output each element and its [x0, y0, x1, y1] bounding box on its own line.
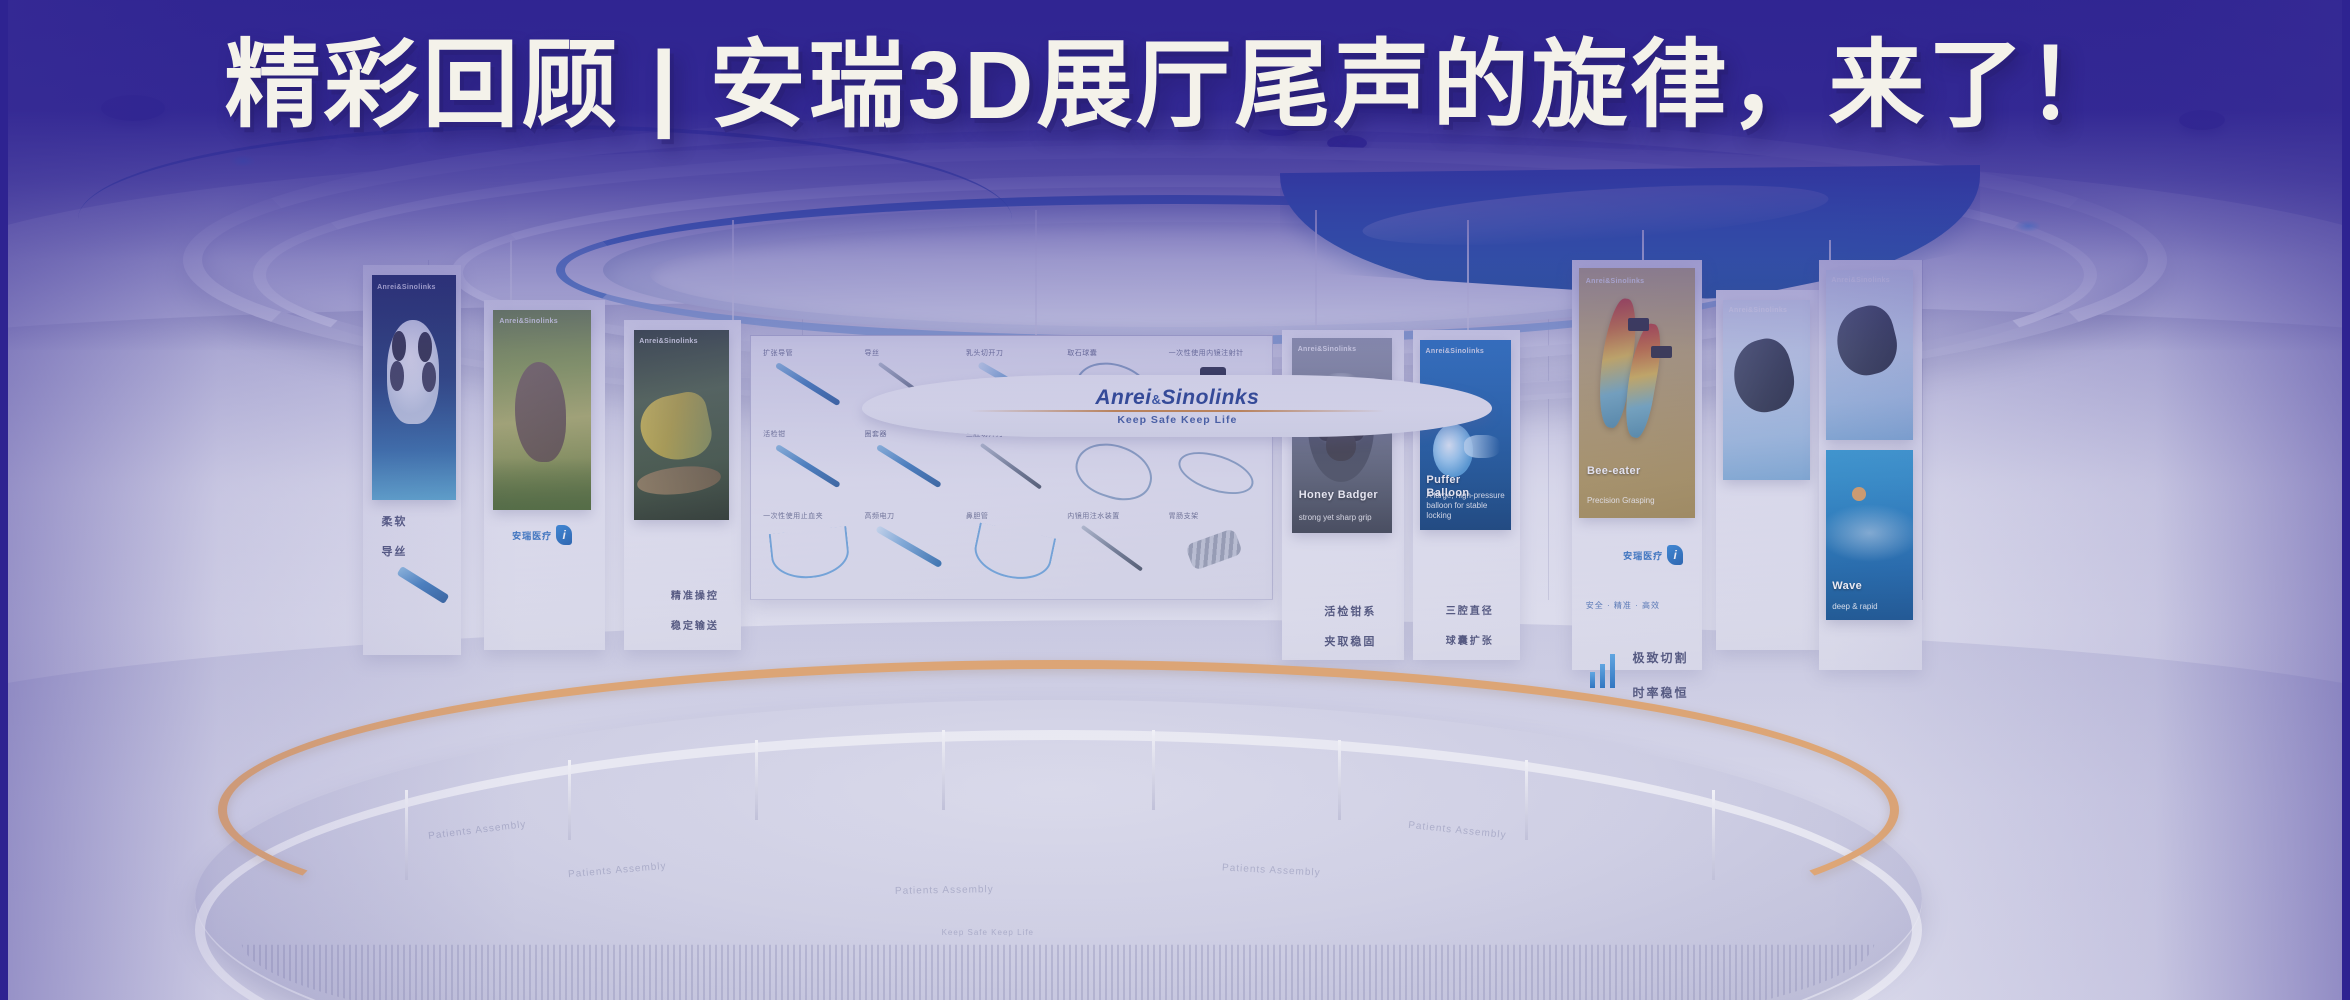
brand-ampersand: & [1152, 392, 1162, 407]
badger-cn-line-2: 夹取稳固 [1324, 635, 1376, 650]
product-label: 内镜用注水装置 [1067, 511, 1120, 521]
badge-label: 安瑞医疗 [512, 529, 552, 542]
product-label: 取石球囊 [1067, 348, 1097, 358]
poster-logo: Anrei&Sinolinks [1586, 278, 1645, 285]
poster-logo: Anrei&Sinolinks [1729, 307, 1788, 314]
bar-3 [1610, 654, 1615, 688]
brand-logo-underline [969, 410, 1385, 412]
device-icon [775, 362, 840, 406]
poster-logo: Anrei&Sinolinks [639, 338, 698, 345]
bird-beak-1 [1628, 318, 1649, 331]
product-label: 一次性使用内镜注射针 [1169, 348, 1244, 358]
poster-chameleon[interactable]: Anrei&Sinolinks [634, 330, 730, 520]
poster-logo: Anrei&Sinolinks [1298, 346, 1357, 353]
puffer-cn-line-1: 三腔直径 [1446, 605, 1494, 619]
poster-subtitle: deep & rapid [1832, 602, 1906, 612]
bird-beak-2 [1651, 346, 1672, 359]
brand-tagline: Keep Safe Keep Life [1117, 414, 1237, 426]
device-icon [980, 443, 1042, 489]
poster-puffer[interactable]: Anrei&Sinolinks Puffer Balloon A large, … [1420, 340, 1511, 530]
chameleon-cn-line-2: 稳定输送 [671, 620, 719, 634]
info-icon: i [556, 525, 572, 545]
device-icon [775, 444, 840, 488]
product-cell[interactable]: 取石网篮 [1063, 428, 1162, 508]
poster-logo: Anrei&Sinolinks [377, 284, 436, 291]
product-cell[interactable]: 扩张导管 [759, 346, 858, 426]
poster-title: Honey Badger [1299, 489, 1385, 502]
poster-logo: Anrei&Sinolinks [1426, 348, 1485, 355]
device-icon [1173, 444, 1258, 502]
badge-anrei-birds: 安瑞医疗 i [1623, 545, 1683, 565]
product-label: 胃肠支架 [1169, 511, 1199, 521]
product-cell[interactable]: 圈套器 [861, 428, 960, 508]
poster-eagle[interactable]: Anrei&Sinolinks [1723, 300, 1809, 480]
mini-chart-label: 安全 · 精准 · 高效 [1586, 600, 1660, 611]
rail-post-8 [1712, 790, 1715, 880]
product-label: 圈套器 [865, 429, 888, 439]
ring-glow-left [230, 155, 256, 167]
device-icon [1069, 435, 1159, 510]
product-cell[interactable]: 鼻胆管 [962, 509, 1061, 589]
product-cell[interactable]: 胆道支架 [1165, 428, 1264, 508]
poster-eagle-2[interactable]: Anrei&Sinolinks [1826, 270, 1912, 440]
rail-post-4 [942, 730, 945, 810]
brand-logo-banner: Anrei&Sinolinks Keep Safe Keep Life [862, 375, 1492, 437]
puffer-cn-line-2: 球囊扩张 [1446, 635, 1494, 649]
page-title: 精彩回顾 | 安瑞3D展厅尾声的旋律，来了！ [0, 36, 2350, 137]
product-label: 高频电刀 [865, 511, 895, 521]
rail-post-6 [1338, 740, 1341, 820]
badger-cn-line-1: 活检钳系 [1324, 605, 1376, 620]
birds-cn-line-1: 极致切割 [1632, 650, 1688, 666]
device-icon [877, 444, 942, 488]
letterbox-bar-right [2342, 0, 2350, 1000]
banner-stage: Anrei&Sinolinks 柔软 导丝 Anrei&Sinolinks 安瑞… [0, 0, 2350, 1000]
mini-bar-chart [1590, 630, 1615, 688]
brand-name-2: Sinolinks [1161, 386, 1259, 409]
product-label: 导丝 [865, 348, 880, 358]
product-label: 活检钳 [763, 429, 786, 439]
product-cell[interactable]: 高频电刀 [861, 509, 960, 589]
poster-subtitle: strong yet sharp grip [1299, 513, 1385, 523]
product-label: 扩张导管 [763, 348, 793, 358]
product-cell[interactable]: 内镜用注水装置 [1063, 509, 1162, 589]
poster-water-wave[interactable]: Wave deep & rapid [1826, 450, 1912, 620]
poster-title: Wave [1832, 580, 1906, 593]
poster-panda[interactable]: Anrei&Sinolinks [372, 275, 456, 500]
panda-cn-line-1: 柔软 [381, 515, 407, 530]
product-cell[interactable]: 胃肠支架 [1165, 509, 1264, 589]
birds-cn-line-2: 时率稳恒 [1632, 685, 1688, 701]
device-icon [1185, 528, 1243, 571]
poster-logo: Anrei&Sinolinks [499, 318, 558, 325]
poster-subtitle: Precision Grasping [1587, 496, 1687, 506]
info-icon: i [1667, 545, 1683, 565]
letterbox-bar-left [0, 0, 8, 1000]
product-cell[interactable]: 三腔切开刀 [962, 428, 1061, 508]
product-label: 一次性使用止血夹 [763, 511, 823, 521]
device-icon [970, 522, 1056, 585]
poster-title: Bee-eater [1587, 465, 1687, 478]
device-icon [876, 525, 943, 568]
device-icon [1081, 525, 1143, 571]
badge-label: 安瑞医疗 [1623, 549, 1663, 562]
rail-post-7 [1525, 760, 1528, 840]
poster-subtitle: A large, high-pressure balloon for stabl… [1426, 491, 1504, 521]
product-cell[interactable]: 活检钳 [759, 428, 858, 508]
brand-logo-text: Anrei&Sinolinks [1095, 387, 1259, 408]
poster-bee-eaters[interactable]: Anrei&Sinolinks Bee-eater Precision Gras… [1579, 268, 1696, 518]
brand-name-1: Anrei [1095, 386, 1151, 409]
rail-post-5 [1152, 730, 1155, 810]
badge-anrei-kangaroo: 安瑞医疗 i [512, 525, 572, 545]
product-label: 乳头切开刀 [966, 348, 1004, 358]
rail-post-2 [568, 760, 571, 840]
poster-kangaroo[interactable]: Anrei&Sinolinks [493, 310, 591, 510]
poster-logo: Anrei&Sinolinks [1831, 277, 1890, 284]
device-icon [769, 526, 851, 582]
product-label: 鼻胆管 [966, 511, 989, 521]
stage-orange-rail [218, 660, 1898, 960]
rail-post-3 [755, 740, 758, 820]
showroom-scene: Anrei&Sinolinks 柔软 导丝 Anrei&Sinolinks 安瑞… [8, 0, 2342, 1000]
panda-cn-line-2: 导丝 [381, 545, 407, 560]
chameleon-cn-line-1: 精准操控 [671, 590, 719, 604]
bar-1 [1590, 672, 1595, 688]
bar-2 [1600, 664, 1605, 688]
rail-post-1 [405, 790, 408, 880]
product-cell[interactable]: 一次性使用止血夹 [759, 509, 858, 589]
